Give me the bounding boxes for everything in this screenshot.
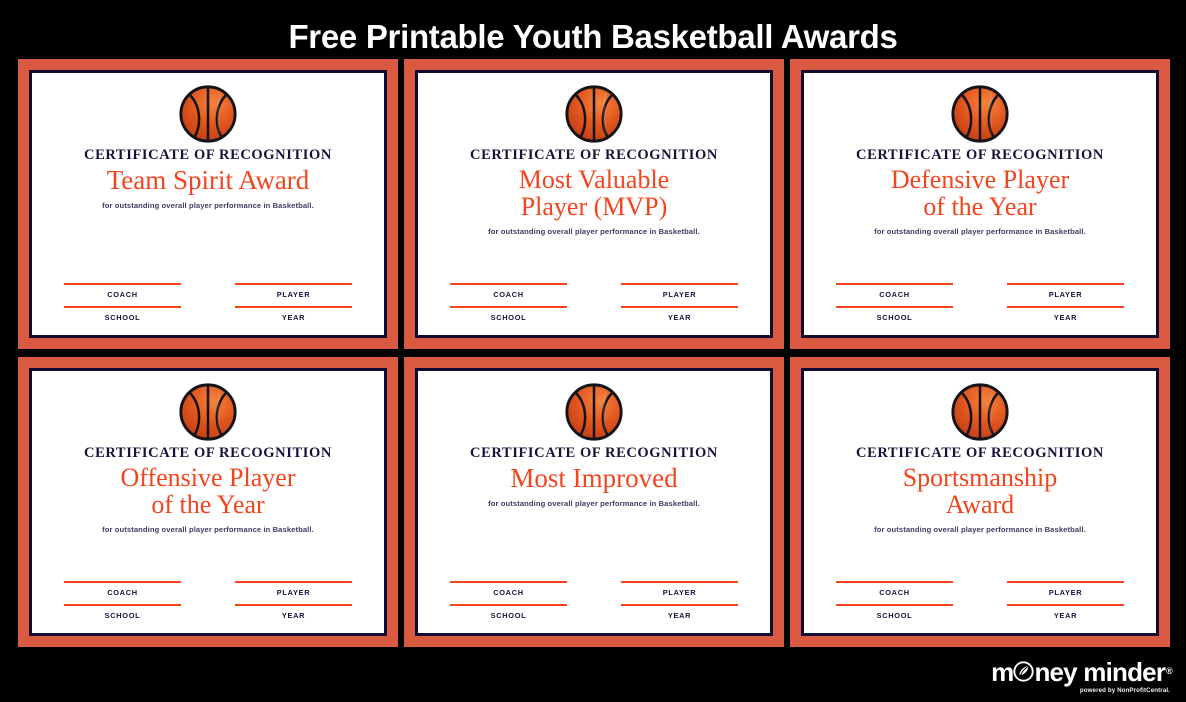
- signature-line: [836, 581, 953, 583]
- signature-line: [621, 581, 738, 583]
- signature-area: COACH PLAYER SCHOOL: [422, 283, 766, 322]
- award-title-line: of the Year: [121, 491, 296, 518]
- signature-field-coach[interactable]: COACH: [450, 283, 567, 299]
- signature-field-coach[interactable]: COACH: [836, 283, 953, 299]
- basketball-icon: [563, 83, 625, 145]
- award-title-line: Defensive Player: [891, 166, 1069, 193]
- signature-row: COACH PLAYER: [64, 283, 352, 299]
- signature-line: [450, 604, 567, 606]
- certificate-card[interactable]: CERTIFICATE OF RECOGNITION Most Valuable…: [404, 59, 784, 349]
- award-title-line: Offensive Player: [121, 464, 296, 491]
- signature-field-year[interactable]: YEAR: [621, 306, 738, 322]
- signature-field-player[interactable]: PLAYER: [621, 581, 738, 597]
- certificate-border: CERTIFICATE OF RECOGNITION Most Improved…: [415, 368, 773, 636]
- signature-label: COACH: [107, 588, 138, 597]
- signature-line: [621, 283, 738, 285]
- certificate-border: CERTIFICATE OF RECOGNITION Team Spirit A…: [29, 70, 387, 338]
- signature-line: [450, 283, 567, 285]
- certificate-card[interactable]: CERTIFICATE OF RECOGNITION Sportsmanship…: [790, 357, 1170, 647]
- award-title-line: Team Spirit Award: [107, 166, 310, 194]
- signature-label: SCHOOL: [877, 611, 913, 620]
- signature-row: COACH PLAYER: [450, 283, 738, 299]
- signature-field-player[interactable]: PLAYER: [1007, 581, 1124, 597]
- signature-label: PLAYER: [277, 588, 311, 597]
- certificate-card[interactable]: CERTIFICATE OF RECOGNITION Team Spirit A…: [18, 59, 398, 349]
- signature-field-school[interactable]: SCHOOL: [836, 604, 953, 620]
- award-title-line: Award: [903, 491, 1058, 518]
- signature-line: [64, 581, 181, 583]
- signature-row: COACH PLAYER: [836, 581, 1124, 597]
- certificate-heading: CERTIFICATE OF RECOGNITION: [856, 445, 1104, 462]
- signature-line: [1007, 306, 1124, 308]
- signature-area: COACH PLAYER SCHOOL: [36, 581, 380, 620]
- signature-line: [64, 306, 181, 308]
- certificate-heading: CERTIFICATE OF RECOGNITION: [856, 147, 1104, 164]
- signature-label: PLAYER: [663, 588, 697, 597]
- signature-label: YEAR: [668, 611, 691, 620]
- award-title-line: Player (MVP): [519, 193, 669, 220]
- certificate-border: CERTIFICATE OF RECOGNITION Offensive Pla…: [29, 368, 387, 636]
- certificate-body: CERTIFICATE OF RECOGNITION Most Valuable…: [422, 77, 766, 331]
- signature-field-year[interactable]: YEAR: [621, 604, 738, 620]
- signature-line: [450, 581, 567, 583]
- signature-field-player[interactable]: PLAYER: [621, 283, 738, 299]
- logo-text-part2: ney minder: [1034, 659, 1165, 685]
- signature-line: [450, 306, 567, 308]
- signature-line: [235, 306, 352, 308]
- award-title: Team Spirit Award: [101, 166, 316, 194]
- certificate-body: CERTIFICATE OF RECOGNITION Sportsmanship…: [808, 375, 1152, 629]
- signature-line: [235, 581, 352, 583]
- sprout-leaf-icon: [1013, 661, 1034, 682]
- certificate-body: CERTIFICATE OF RECOGNITION Defensive Pla…: [808, 77, 1152, 331]
- certificate-subtext: for outstanding overall player performan…: [488, 227, 700, 236]
- signature-label: COACH: [493, 588, 524, 597]
- basketball-icon: [177, 381, 239, 443]
- signature-row: SCHOOL YEAR: [64, 604, 352, 620]
- certificate-border: CERTIFICATE OF RECOGNITION Defensive Pla…: [801, 70, 1159, 338]
- certificate-body: CERTIFICATE OF RECOGNITION Most Improved…: [422, 375, 766, 629]
- signature-field-coach[interactable]: COACH: [64, 283, 181, 299]
- signature-row: SCHOOL YEAR: [836, 604, 1124, 620]
- signature-field-year[interactable]: YEAR: [1007, 604, 1124, 620]
- signature-line: [235, 283, 352, 285]
- basketball-icon: [177, 83, 239, 145]
- certificate-subtext: for outstanding overall player performan…: [102, 525, 314, 534]
- award-title: Offensive Playerof the Year: [115, 464, 302, 518]
- signature-label: YEAR: [1054, 611, 1077, 620]
- award-title-line: Most Improved: [510, 464, 677, 492]
- certificate-heading: CERTIFICATE OF RECOGNITION: [84, 445, 332, 462]
- signature-line: [64, 283, 181, 285]
- signature-label: SCHOOL: [105, 611, 141, 620]
- certificate-card[interactable]: CERTIFICATE OF RECOGNITION Defensive Pla…: [790, 59, 1170, 349]
- basketball-icon: [563, 381, 625, 443]
- signature-line: [836, 283, 953, 285]
- signature-row: SCHOOL YEAR: [64, 306, 352, 322]
- signature-line: [621, 604, 738, 606]
- signature-area: COACH PLAYER SCHOOL: [422, 581, 766, 620]
- basketball-icon: [949, 83, 1011, 145]
- signature-field-school[interactable]: SCHOOL: [64, 604, 181, 620]
- signature-field-school[interactable]: SCHOOL: [836, 306, 953, 322]
- signature-line: [64, 604, 181, 606]
- signature-row: SCHOOL YEAR: [450, 306, 738, 322]
- page-title: Free Printable Youth Basketball Awards: [0, 0, 1186, 59]
- award-title-line: Sportsmanship: [903, 464, 1058, 491]
- certificate-border: CERTIFICATE OF RECOGNITION Most Valuable…: [415, 70, 773, 338]
- certificate-body: CERTIFICATE OF RECOGNITION Team Spirit A…: [36, 77, 380, 331]
- signature-row: COACH PLAYER: [836, 283, 1124, 299]
- signature-label: SCHOOL: [877, 313, 913, 322]
- signature-label: PLAYER: [277, 290, 311, 299]
- signature-label: COACH: [107, 290, 138, 299]
- signature-row: COACH PLAYER: [64, 581, 352, 597]
- signature-label: YEAR: [282, 611, 305, 620]
- logo-trademark: ®: [1166, 667, 1172, 676]
- signature-field-coach[interactable]: COACH: [64, 581, 181, 597]
- signature-area: COACH PLAYER SCHOOL: [808, 283, 1152, 322]
- award-title: SportsmanshipAward: [897, 464, 1064, 518]
- signature-label: COACH: [879, 588, 910, 597]
- signature-line: [1007, 283, 1124, 285]
- award-title: Most ValuablePlayer (MVP): [513, 166, 675, 220]
- basketball-icon: [949, 381, 1011, 443]
- signature-area: COACH PLAYER SCHOOL: [36, 283, 380, 322]
- signature-line: [621, 306, 738, 308]
- signature-field-school[interactable]: SCHOOL: [450, 306, 567, 322]
- signature-line: [836, 306, 953, 308]
- logo-wordmark: m ney minder ®: [991, 659, 1172, 685]
- signature-label: PLAYER: [663, 290, 697, 299]
- signature-line: [1007, 604, 1124, 606]
- signature-line: [1007, 581, 1124, 583]
- certificate-card[interactable]: CERTIFICATE OF RECOGNITION Most Improved…: [404, 357, 784, 647]
- signature-line: [836, 604, 953, 606]
- certificate-subtext: for outstanding overall player performan…: [874, 227, 1086, 236]
- certificate-heading: CERTIFICATE OF RECOGNITION: [470, 147, 718, 164]
- moneyminder-logo: m ney minder ® powered by NonProfitCentr…: [991, 659, 1172, 694]
- signature-field-school[interactable]: SCHOOL: [450, 604, 567, 620]
- award-title: Most Improved: [504, 464, 683, 492]
- signature-field-player[interactable]: PLAYER: [235, 581, 352, 597]
- signature-label: YEAR: [1054, 313, 1077, 322]
- signature-label: COACH: [493, 290, 524, 299]
- signature-label: SCHOOL: [491, 313, 527, 322]
- signature-label: PLAYER: [1049, 290, 1083, 299]
- logo-text-part1: m: [991, 659, 1013, 685]
- signature-label: SCHOOL: [105, 313, 141, 322]
- award-title-line: Most Valuable: [519, 166, 669, 193]
- signature-label: YEAR: [282, 313, 305, 322]
- signature-row: SCHOOL YEAR: [836, 306, 1124, 322]
- certificate-heading: CERTIFICATE OF RECOGNITION: [470, 445, 718, 462]
- certificate-body: CERTIFICATE OF RECOGNITION Offensive Pla…: [36, 375, 380, 629]
- certificate-card[interactable]: CERTIFICATE OF RECOGNITION Offensive Pla…: [18, 357, 398, 647]
- certificate-grid: CERTIFICATE OF RECOGNITION Team Spirit A…: [18, 59, 1170, 647]
- signature-field-year[interactable]: YEAR: [1007, 306, 1124, 322]
- signature-area: COACH PLAYER SCHOOL: [808, 581, 1152, 620]
- signature-label: YEAR: [668, 313, 691, 322]
- award-title: Defensive Playerof the Year: [885, 166, 1075, 220]
- signature-line: [235, 604, 352, 606]
- signature-field-school[interactable]: SCHOOL: [64, 306, 181, 322]
- signature-field-player[interactable]: PLAYER: [1007, 283, 1124, 299]
- signature-field-coach[interactable]: COACH: [450, 581, 567, 597]
- signature-label: COACH: [879, 290, 910, 299]
- signature-label: SCHOOL: [491, 611, 527, 620]
- signature-field-year[interactable]: YEAR: [235, 306, 352, 322]
- signature-label: PLAYER: [1049, 588, 1083, 597]
- certificate-border: CERTIFICATE OF RECOGNITION Sportsmanship…: [801, 368, 1159, 636]
- signature-field-player[interactable]: PLAYER: [235, 283, 352, 299]
- signature-field-year[interactable]: YEAR: [235, 604, 352, 620]
- certificate-subtext: for outstanding overall player performan…: [874, 525, 1086, 534]
- signature-row: SCHOOL YEAR: [450, 604, 738, 620]
- signature-field-coach[interactable]: COACH: [836, 581, 953, 597]
- certificate-heading: CERTIFICATE OF RECOGNITION: [84, 147, 332, 164]
- signature-row: COACH PLAYER: [450, 581, 738, 597]
- logo-tagline: powered by NonProfitCentral.: [991, 688, 1170, 694]
- award-title-line: of the Year: [891, 193, 1069, 220]
- certificate-subtext: for outstanding overall player performan…: [102, 201, 314, 210]
- certificate-subtext: for outstanding overall player performan…: [488, 499, 700, 508]
